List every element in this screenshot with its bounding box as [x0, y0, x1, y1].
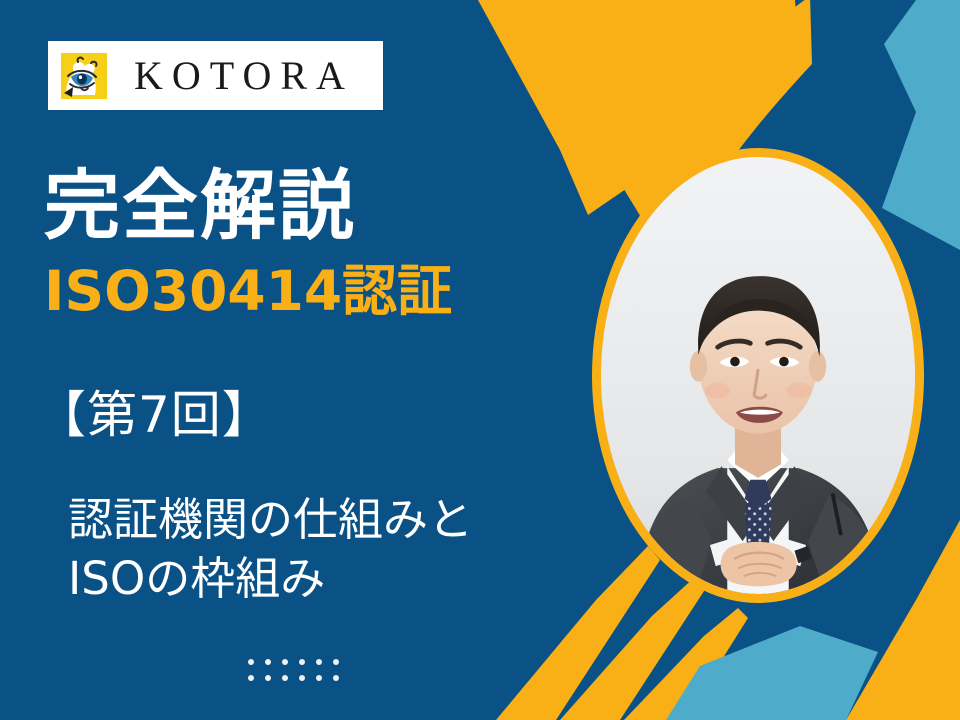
- portrait-frame: [592, 148, 924, 603]
- speaker-photo: [601, 157, 915, 594]
- dot: [248, 659, 254, 665]
- slide-canvas: KOTORA 完全解説 ISO30414認証 【第7回】 認証機関の仕組みと I…: [0, 0, 960, 720]
- dot: [282, 675, 288, 681]
- dot: [316, 675, 322, 681]
- tiger-face-icon: [61, 53, 107, 99]
- headline-block: 完全解説 ISO30414認証: [44, 168, 564, 319]
- dot: [282, 659, 288, 665]
- episode-subtitle-line-1: 認証機関の仕組みと: [68, 490, 568, 549]
- dot: [248, 675, 254, 681]
- kotora-logo: KOTORA: [48, 41, 383, 110]
- dot: [265, 659, 271, 665]
- episode-subtitle-line-2: ISOの枠組み: [68, 549, 568, 608]
- page-title: 完全解説: [44, 168, 564, 244]
- dot: [299, 675, 305, 681]
- kotora-wordmark: KOTORA: [134, 56, 354, 96]
- episode-badge: 【第7回】: [36, 390, 273, 440]
- episode-subtitle: 認証機関の仕組みと ISOの枠組み: [68, 490, 568, 609]
- dot-grid-ornament: [242, 654, 344, 686]
- page-subtitle-standard: ISO30414認証: [44, 264, 564, 319]
- dot: [333, 675, 339, 681]
- dot: [265, 675, 271, 681]
- dot: [333, 659, 339, 665]
- dot: [299, 659, 305, 665]
- portrait-clip: [601, 157, 915, 594]
- dot: [316, 659, 322, 665]
